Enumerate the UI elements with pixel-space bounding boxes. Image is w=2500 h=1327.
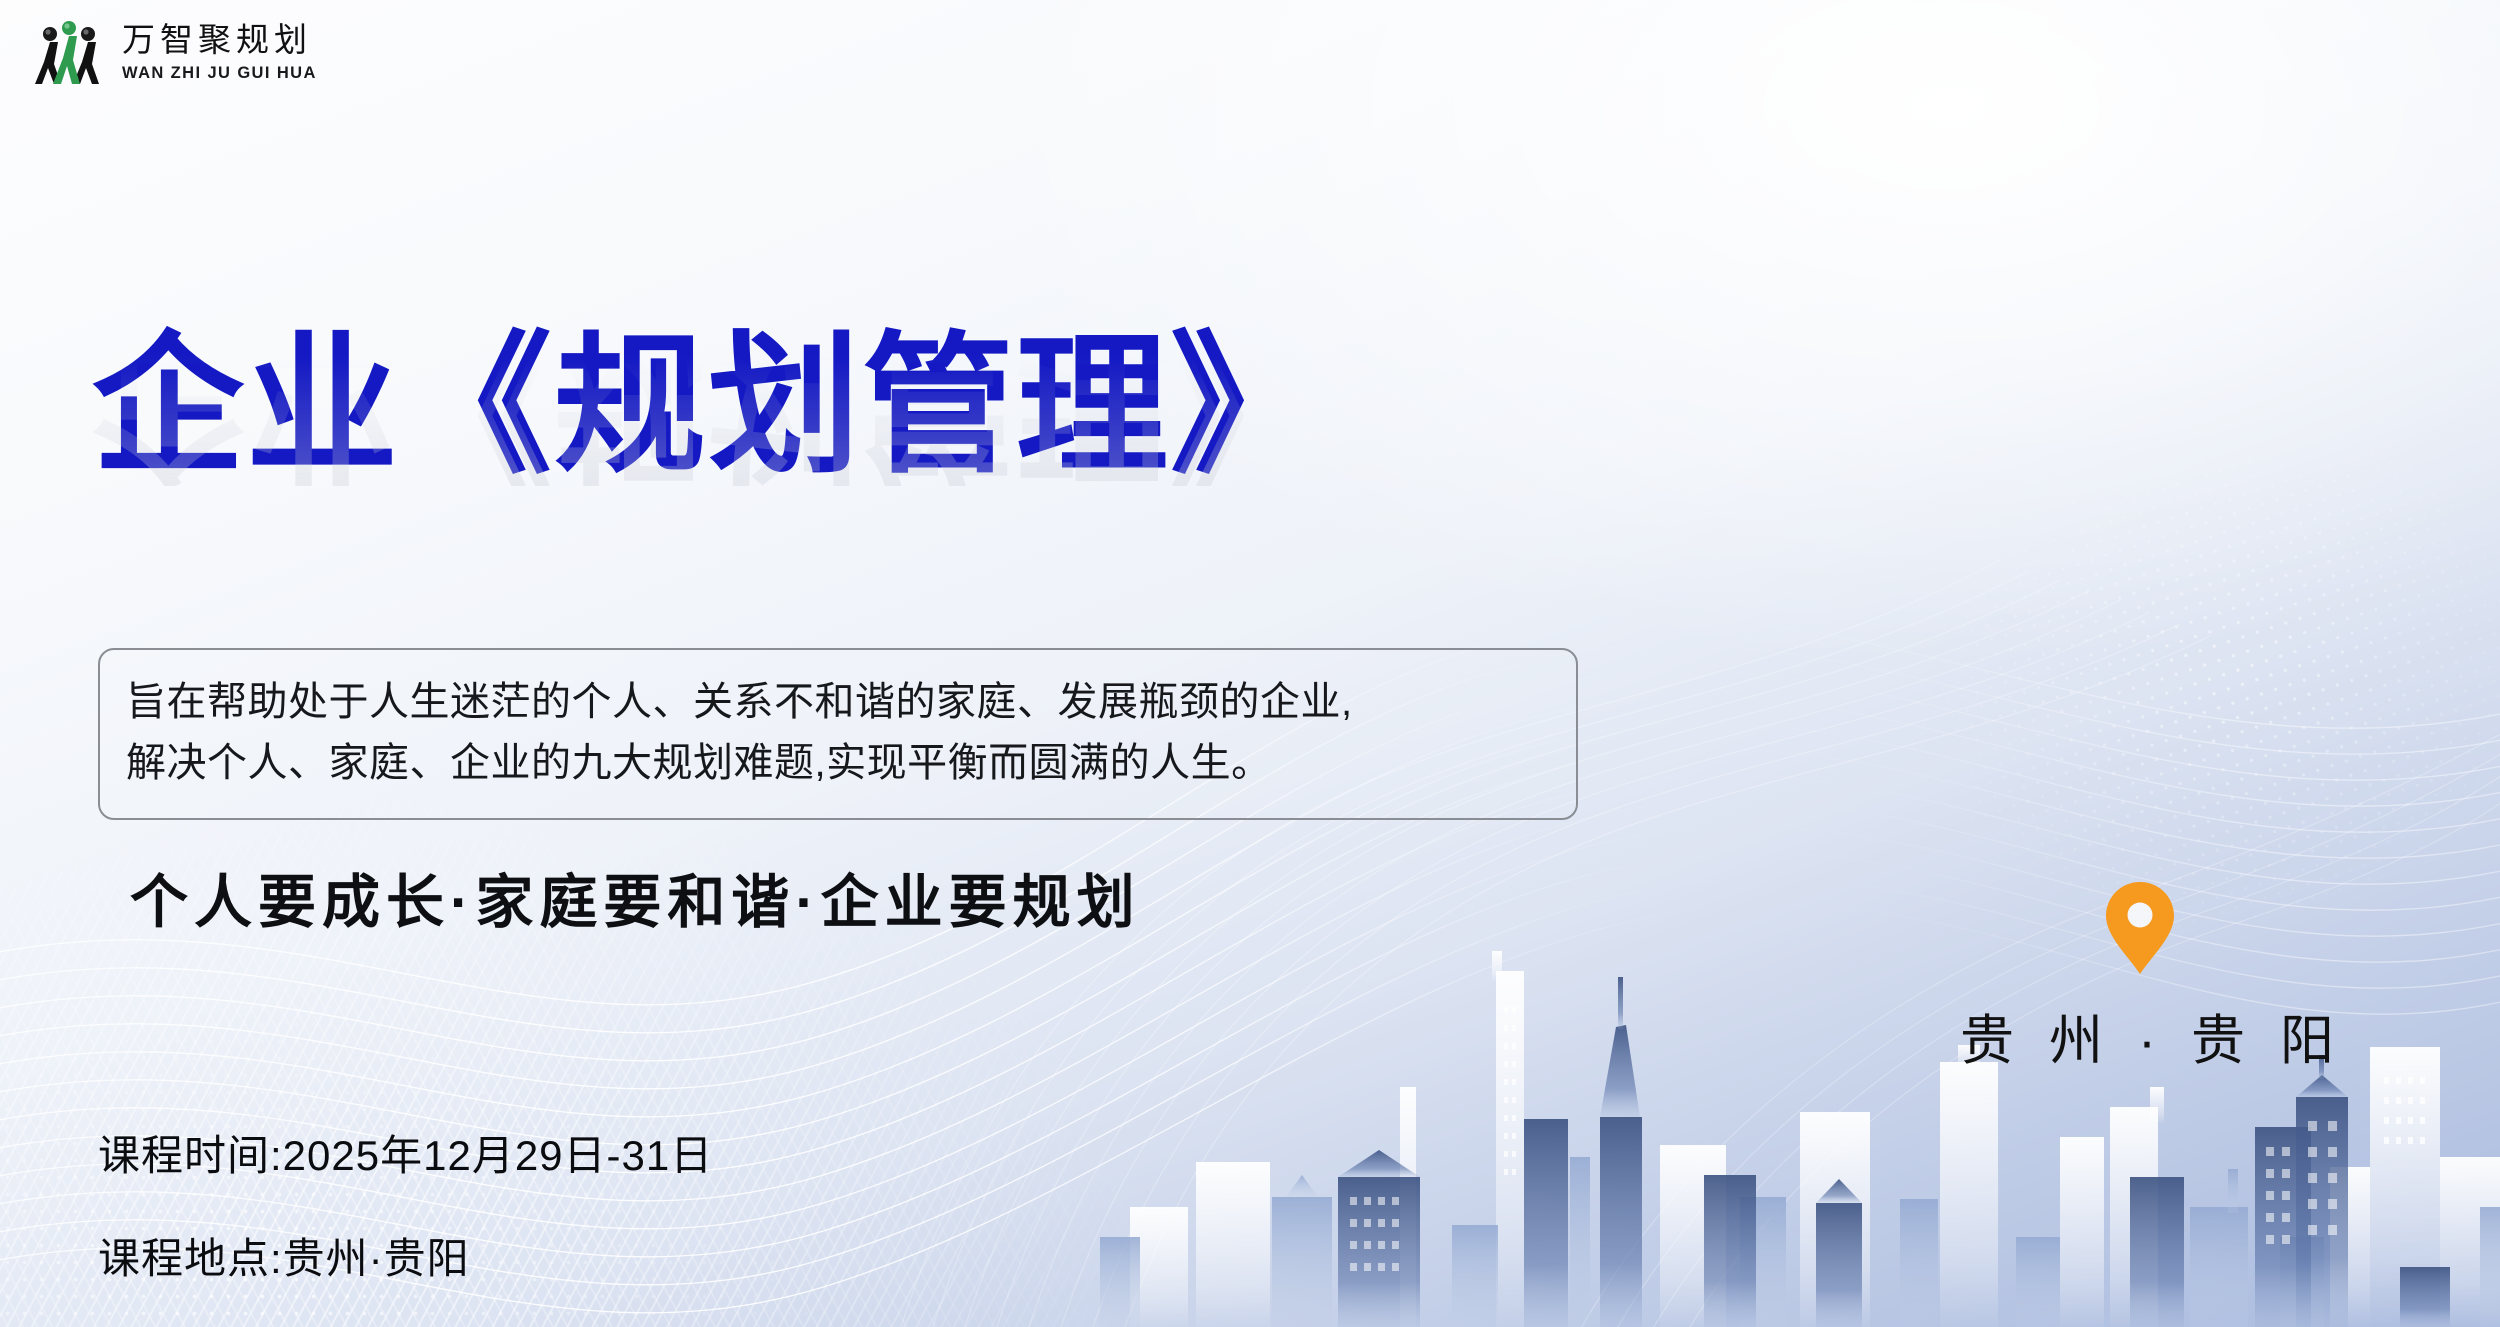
- course-time-row: 课程时间:2025年12月29日-31日: [98, 1122, 713, 1183]
- three-people-logo-icon: [30, 18, 108, 88]
- description-box: 旨在帮助处于人生迷茫的个人、关系不和谐的家庭、发展瓶颈的企业, 解决个人、家庭、…: [98, 648, 1578, 820]
- hero-title-block: 企业《规划管理》 企业《规划管理》: [92, 330, 1324, 638]
- location-city-name: 贵 州 · 贵 阳: [1960, 996, 2320, 1075]
- location-block: 贵 州 · 贵 阳: [1960, 880, 2320, 1075]
- course-info-block: 课程时间:2025年12月29日-31日 课程地点:贵州·贵阳: [98, 1122, 713, 1286]
- poster-canvas: 万智聚规划 WAN ZHI JU GUI HUA 企业《规划管理》 企业《规划管…: [0, 0, 2500, 1327]
- description-line-1: 旨在帮助处于人生迷茫的个人、关系不和谐的家庭、发展瓶颈的企业,: [126, 672, 1550, 733]
- brand-name-cn: 万智聚规划: [122, 25, 317, 58]
- brand-logo-text: 万智聚规划 WAN ZHI JU GUI HUA: [122, 25, 317, 82]
- page-title-reflection: 企业《规划管理》: [92, 334, 1324, 486]
- slogan-text: 个人要成长·家庭要和谐·企业要规划: [130, 855, 1141, 939]
- description-line-2: 解决个人、家庭、企业的九大规划难题,实现平衡而圆满的人生。: [126, 733, 1550, 794]
- brand-name-pinyin: WAN ZHI JU GUI HUA: [122, 65, 317, 82]
- map-pin-icon: [2103, 880, 2177, 976]
- brand-logo: 万智聚规划 WAN ZHI JU GUI HUA: [30, 18, 317, 88]
- course-place-row: 课程地点:贵州·贵阳: [98, 1225, 713, 1286]
